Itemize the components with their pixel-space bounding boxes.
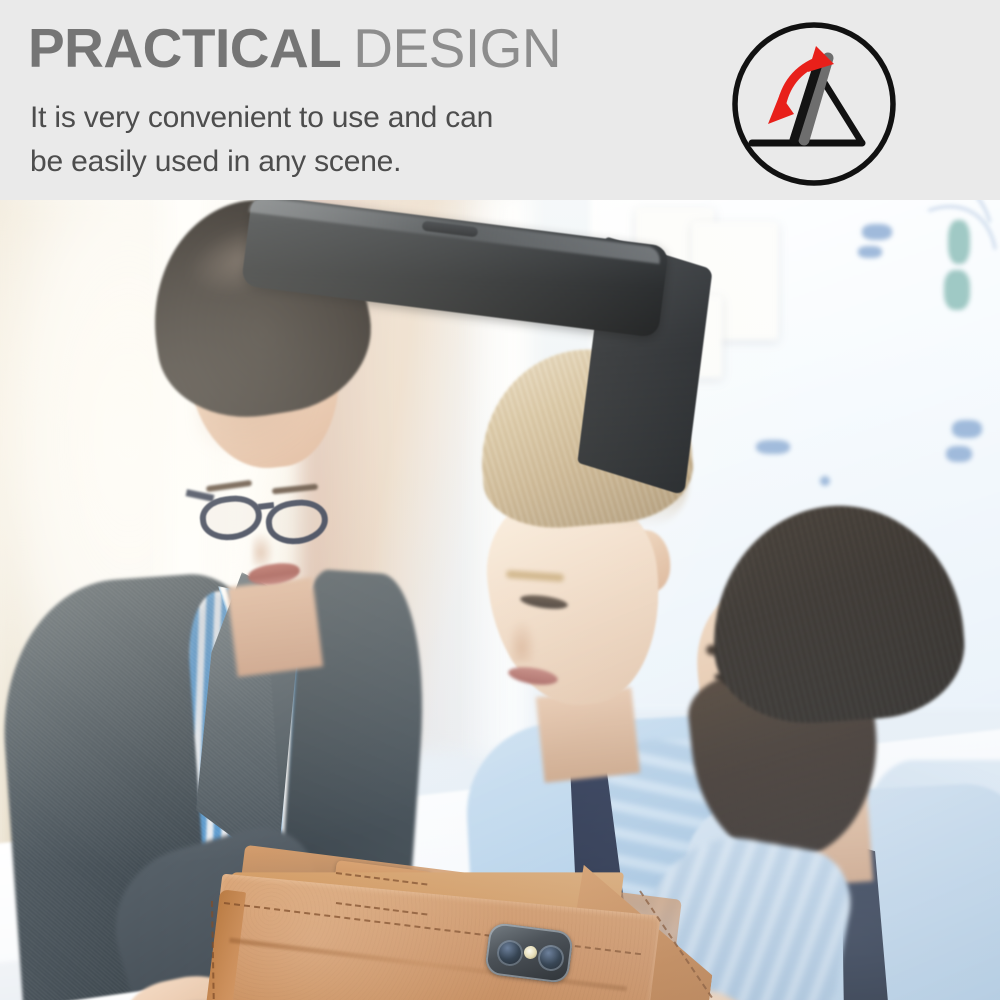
product-feature-banner: PRACTICALDESIGN It is very convenient to… — [0, 0, 1000, 1000]
subtitle-line-2: be easily used in any scene. — [30, 140, 493, 184]
phone-body — [241, 200, 669, 338]
subtitle-line-1: It is very convenient to use and can — [30, 96, 493, 140]
subtitle: It is very convenient to use and can be … — [30, 96, 493, 184]
page-title: PRACTICALDESIGN — [28, 16, 561, 80]
header-band: PRACTICALDESIGN It is very convenient to… — [0, 0, 1000, 200]
leather-folio-stand-case — [0, 200, 1000, 1000]
adjustable-kickstand-icon — [728, 18, 900, 190]
lifestyle-photo — [0, 200, 1000, 1000]
headline-word-light: DESIGN — [353, 17, 561, 79]
headline-word-bold: PRACTICAL — [28, 17, 341, 79]
angle-arrow-head-bottom — [768, 94, 794, 124]
